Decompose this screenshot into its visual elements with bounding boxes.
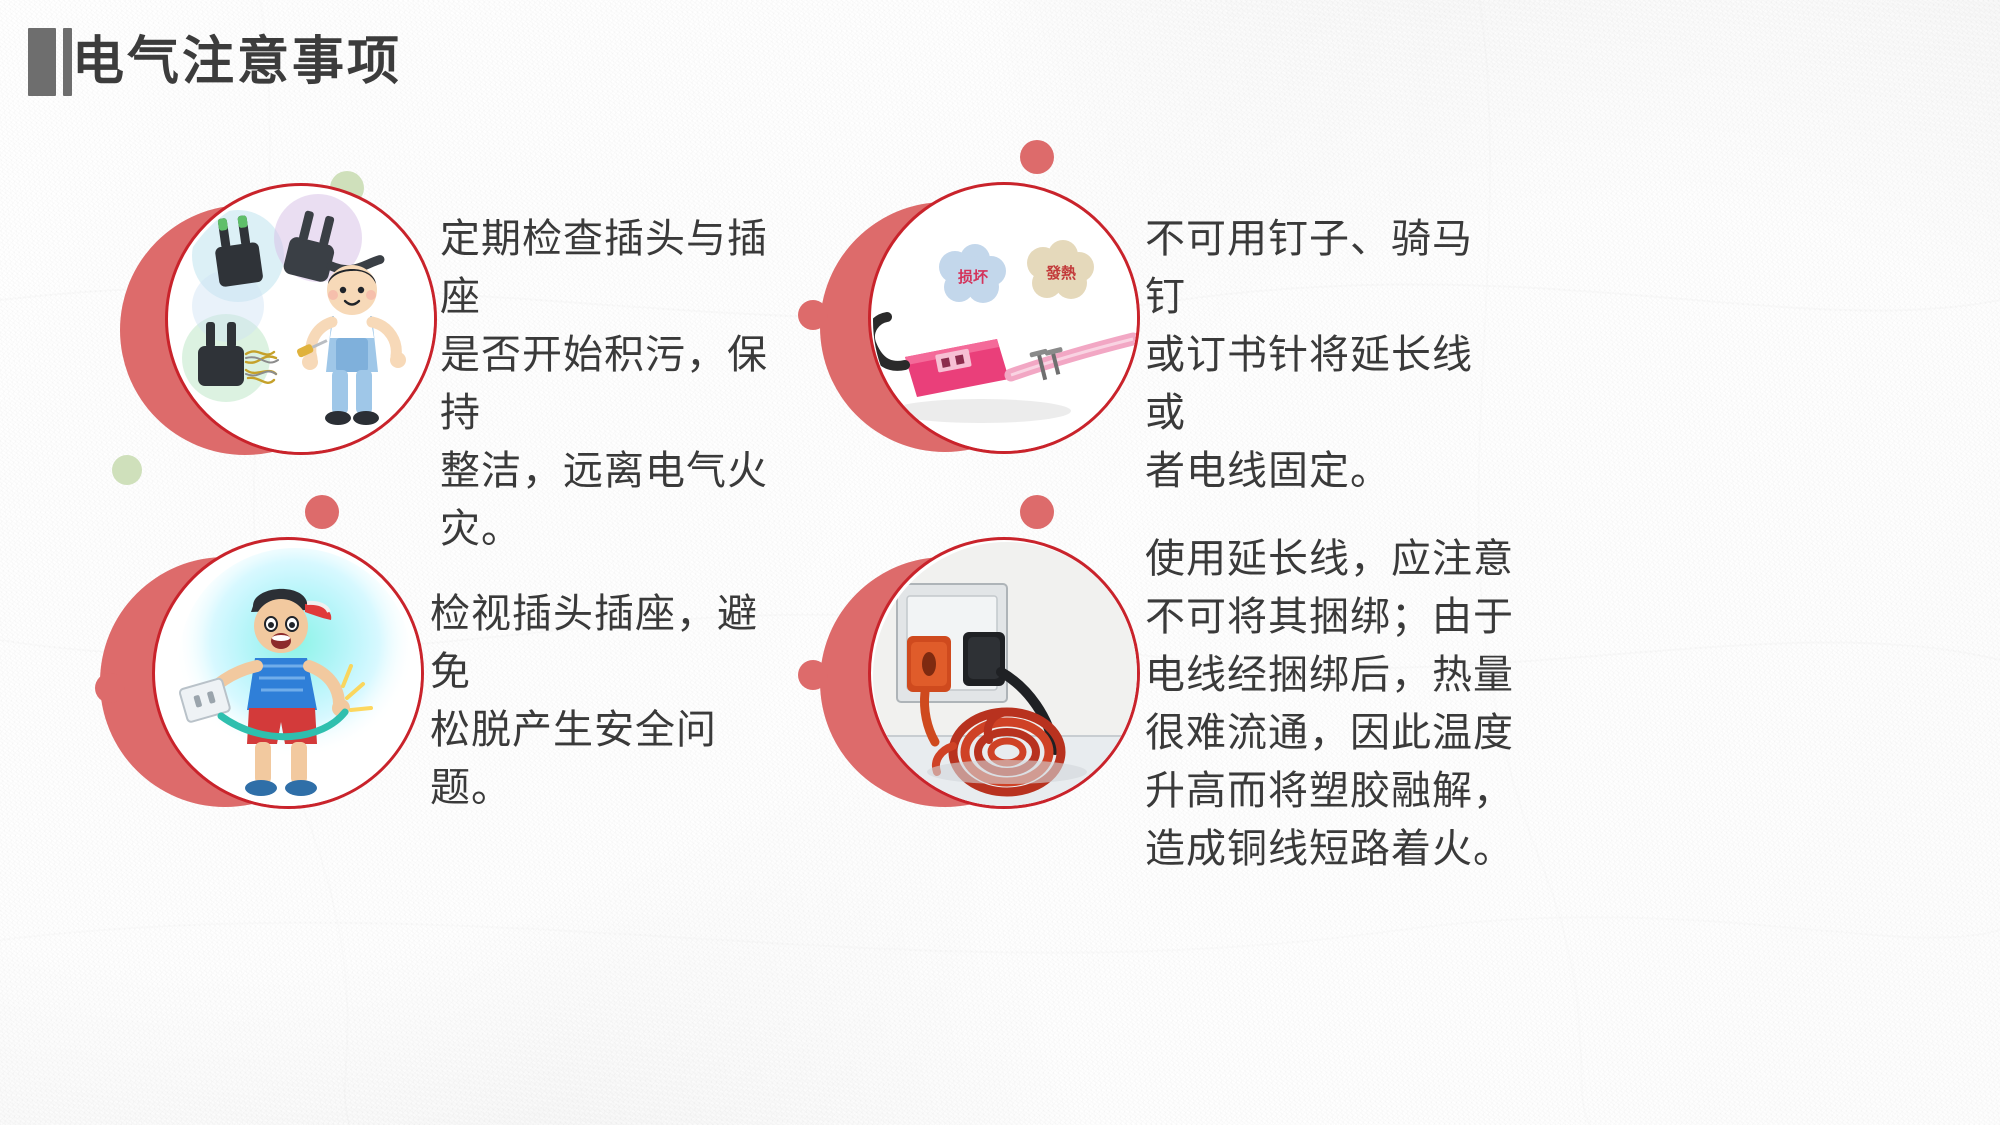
panel-3-caption: 检视插头插座，避免 松脱产生安全问题。 (430, 585, 790, 817)
panel-4-badge (820, 495, 1140, 815)
panel-1-caption: 定期检查插头与插座 是否开始积污，保持 整洁，远离电气火灾。 (440, 210, 800, 558)
panel-2-badge: 损坏 發熱 (820, 140, 1140, 460)
title-bar-thick-icon (28, 28, 56, 96)
title-bar-thin-icon (63, 28, 72, 96)
panel-3-dot-top (305, 495, 339, 529)
panel-1-photo-ring (165, 183, 437, 455)
panel-3-badge (100, 495, 420, 815)
electric-shock-boy-illustration (155, 540, 421, 806)
bubble-label-damage: 损坏 (958, 268, 988, 286)
panel-1-dot-green-bottom (112, 455, 142, 485)
panel-4-dot-top (1020, 495, 1054, 529)
panel-3-photo-ring (152, 537, 424, 809)
panel-3-dot-left (95, 673, 125, 703)
plugs-and-boy-illustration (168, 186, 434, 452)
panel-4-photo-ring (868, 537, 1140, 809)
panel-2-photo-ring: 损坏 發熱 (868, 182, 1140, 454)
slide-header: 电气注意事项 (0, 0, 2000, 130)
panel-2-dot-left (798, 300, 828, 330)
title-accent-bars (28, 28, 72, 96)
page-title: 电气注意事项 (72, 30, 402, 94)
bubble-label-heat: 發熱 (1045, 264, 1076, 282)
panel-2-caption: 不可用钉子、骑马钉 或订书针将延长线或 者电线固定。 (1145, 210, 1505, 500)
panel-2-dot-top (1020, 140, 1054, 174)
panel-4-dot-left (798, 660, 828, 690)
coiled-extension-cord-photo (871, 540, 1137, 806)
panel-4-caption: 使用延长线，应注意 不可将其捆绑；由于 电线经捆绑后，热量 很难流通，因此温度 … (1145, 530, 1515, 878)
power-strip-nail-photo: 损坏 發熱 (871, 185, 1137, 451)
panel-1-badge (120, 165, 440, 485)
